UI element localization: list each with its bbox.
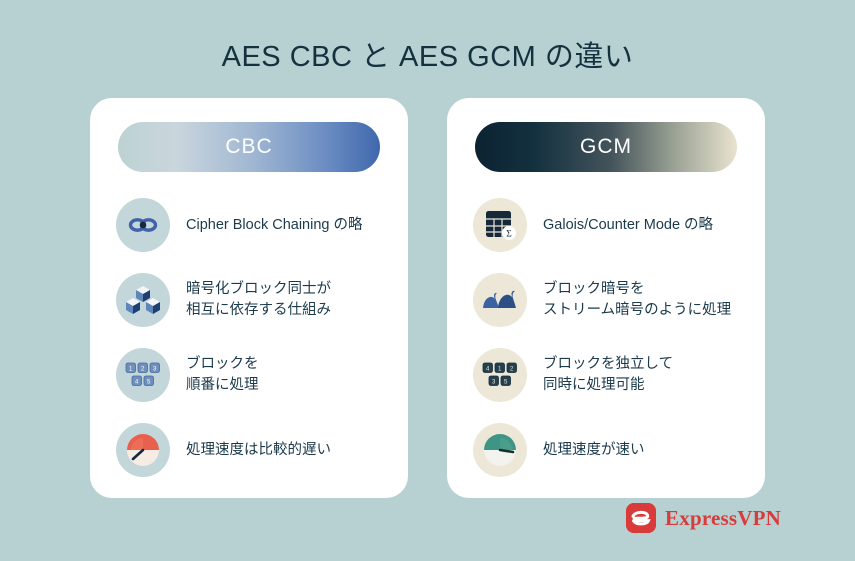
numbered-blocks-icon: 1 2 3 4 5 (116, 348, 170, 402)
list-item: Cipher Block Chaining の略 (116, 198, 388, 252)
list-item: ブロック暗号を ストリーム暗号のように処理 (473, 273, 745, 327)
card-header-gcm: GCM (475, 122, 737, 172)
list-item-label: 処理速度が速い (543, 440, 645, 461)
speedometer-slow-icon (116, 423, 170, 477)
expressvpn-wordmark: ExpressVPN (665, 506, 781, 531)
chain-link-icon (116, 198, 170, 252)
card-gcm: GCM Σ (447, 98, 765, 498)
page-title: AES CBC と AES GCM の違い (0, 33, 855, 75)
list-item-label: Cipher Block Chaining の略 (186, 215, 363, 236)
comparison-cards: CBC Cipher Block Chaining の略 (90, 98, 765, 498)
list-item: 暗号化ブロック同士が 相互に依存する仕組み (116, 273, 388, 327)
list-item-label: ブロック暗号を ストリーム暗号のように処理 (543, 279, 731, 320)
card-cbc: CBC Cipher Block Chaining の略 (90, 98, 408, 498)
list-item: 処理速度が速い (473, 423, 745, 477)
feature-list-gcm: Σ Galois/Counter Mode の略 ブロック暗号を ストリーム暗号… (467, 198, 745, 477)
list-item-label: 処理速度は比較的遅い (186, 440, 331, 461)
numbered-blocks-dark-icon: 4 1 2 3 5 (473, 348, 527, 402)
list-item-label: 暗号化ブロック同士が 相互に依存する仕組み (186, 279, 331, 320)
list-item-label: ブロックを 順番に処理 (186, 354, 259, 395)
expressvpn-logo: ExpressVPN (626, 503, 781, 533)
svg-text:Σ: Σ (506, 229, 512, 239)
list-item: 4 1 2 3 5 ブロックを独立して 同時に処理可能 (473, 348, 745, 402)
speedometer-fast-icon (473, 423, 527, 477)
expressvpn-mark-icon (626, 503, 656, 533)
list-item-label: Galois/Counter Mode の略 (543, 215, 713, 236)
cubes-3d-icon (116, 273, 170, 327)
card-header-cbc: CBC (118, 122, 380, 172)
list-item: 処理速度は比較的遅い (116, 423, 388, 477)
feature-list-cbc: Cipher Block Chaining の略 (110, 198, 388, 477)
list-item: Σ Galois/Counter Mode の略 (473, 198, 745, 252)
waves-icon (473, 273, 527, 327)
grid-sigma-icon: Σ (473, 198, 527, 252)
list-item-label: ブロックを独立して 同時に処理可能 (543, 354, 673, 395)
list-item: 1 2 3 4 5 ブロックを 順番に処理 (116, 348, 388, 402)
